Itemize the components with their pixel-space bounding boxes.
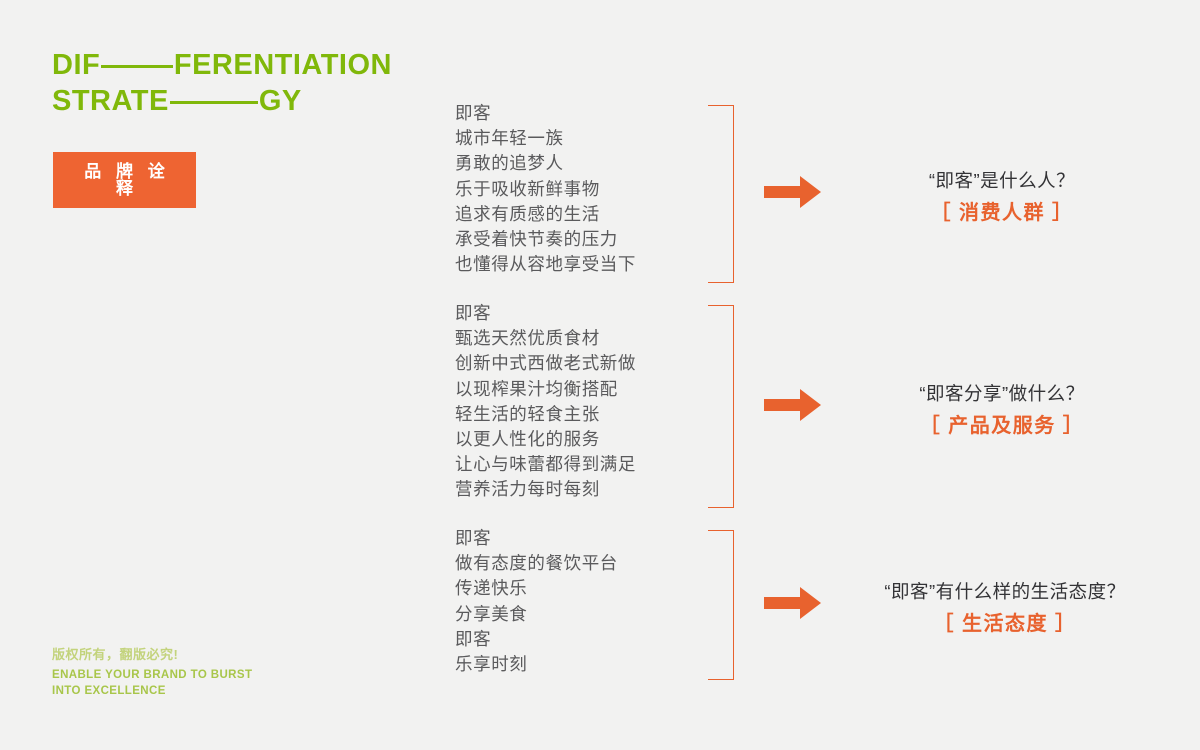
row-1-conclusion: “即客”是什么人？ ［ 消费人群 ］ — [837, 167, 1167, 228]
title-word-gy: GY — [259, 84, 302, 118]
group-bracket-icon — [708, 305, 734, 508]
row-3-tag: ［ 生活态度 ］ — [805, 609, 1200, 639]
row-2-tag: ［ 产品及服务 ］ — [837, 411, 1167, 441]
list-item: 即客 — [455, 301, 1175, 326]
row-1-tag: ［ 消费人群 ］ — [837, 198, 1167, 228]
row-3-question: “即客”有什么样的生活态度？ — [805, 578, 1200, 606]
row-1-question: “即客”是什么人？ — [837, 167, 1167, 195]
slide-canvas: DIF FERENTIATION STRATE GY 品 牌 诠 释 版权所有，… — [0, 0, 1200, 750]
content-row-2: 即客 甄选天然优质食材 创新中式西做老式新做 以现榨果汁均衡搭配 轻生活的轻食主… — [455, 301, 1175, 503]
footer-copyright-cn: 版权所有，翻版必究! — [52, 645, 252, 665]
footer-tagline: ENABLE YOUR BRAND TO BURST INTO EXCELLEN… — [52, 668, 252, 699]
title-line-1: DIF FERENTIATION — [52, 48, 392, 82]
list-item: 乐享时刻 — [455, 652, 1175, 677]
list-item: 做有态度的餐饮平台 — [455, 551, 1175, 576]
list-item: 让心与味蕾都得到满足 — [455, 452, 1175, 477]
group-bracket-icon — [708, 530, 734, 680]
arrow-right-icon — [764, 388, 822, 422]
page-title: DIF FERENTIATION STRATE GY — [52, 48, 392, 118]
brand-interpretation-badge: 品 牌 诠 释 — [53, 152, 196, 208]
title-word-dif: DIF — [52, 48, 100, 82]
list-item: 营养活力每时每刻 — [455, 477, 1175, 502]
arrow-right-icon — [764, 175, 822, 209]
group-bracket-icon — [708, 105, 734, 283]
list-item: 甄选天然优质食材 — [455, 326, 1175, 351]
footer-tagline-line-2: INTO EXCELLENCE — [52, 684, 252, 700]
footer-copyright: 版权所有，翻版必究! ENABLE YOUR BRAND TO BURST IN… — [52, 645, 252, 699]
title-word-strate: STRATE — [52, 84, 169, 118]
content-row-3: 即客 做有态度的餐饮平台 传递快乐 分享美食 即客 乐享时刻 “即客”有什么样的… — [455, 526, 1175, 677]
title-line-2: STRATE GY — [52, 84, 392, 118]
list-item: 承受着快节奏的压力 — [455, 227, 1175, 252]
row-2-question: “即客分享”做什么？ — [837, 380, 1167, 408]
list-item: 即客 — [455, 101, 1175, 126]
content-row-1: 即客 城市年轻一族 勇敢的追梦人 乐于吸收新鲜事物 追求有质感的生活 承受着快节… — [455, 101, 1175, 277]
list-item: 即客 — [455, 526, 1175, 551]
title-word-ferentiation: FERENTIATION — [174, 48, 392, 82]
list-item: 城市年轻一族 — [455, 126, 1175, 151]
list-item: 创新中式西做老式新做 — [455, 351, 1175, 376]
row-2-conclusion: “即客分享”做什么？ ［ 产品及服务 ］ — [837, 380, 1167, 441]
list-item: 也懂得从容地享受当下 — [455, 252, 1175, 277]
title-rule-2 — [170, 101, 258, 104]
row-3-conclusion: “即客”有什么样的生活态度？ ［ 生活态度 ］ — [805, 578, 1200, 639]
footer-tagline-line-1: ENABLE YOUR BRAND TO BURST — [52, 668, 252, 684]
title-rule-1 — [101, 65, 173, 68]
